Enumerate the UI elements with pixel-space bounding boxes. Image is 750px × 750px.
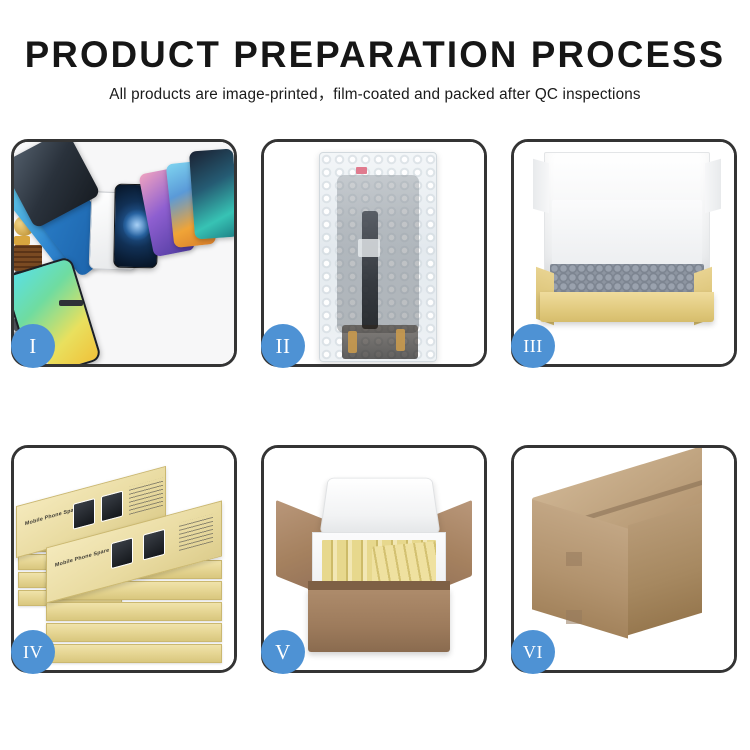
step-badge-1: I <box>11 324 55 368</box>
step-panel-4[interactable]: Mobile Phone Spare Parts Mobile Phone Sp… <box>11 445 237 673</box>
step-badge-5: V <box>261 630 305 674</box>
box-artwork-phone-icon <box>73 498 95 530</box>
product-preparation-infographic: PRODUCT PREPARATION PROCESS All products… <box>0 0 750 750</box>
foam-lid-icon <box>320 478 441 535</box>
phone-teal-screen-icon <box>189 149 234 240</box>
stacked-box <box>46 602 222 621</box>
step-badge-3: III <box>511 324 555 368</box>
bubble-wrap-bag-icon <box>319 152 437 362</box>
antenna-strip-icon <box>59 300 83 306</box>
carton-tape-icon <box>566 610 582 624</box>
carton-right-face-icon <box>628 503 702 636</box>
header: PRODUCT PREPARATION PROCESS All products… <box>0 33 750 105</box>
box-spec-text-icon <box>179 514 213 551</box>
box-artwork-phone-icon <box>143 529 165 561</box>
wrapped-flex-cable-icon <box>362 211 378 329</box>
gold-connector-icon <box>14 236 30 245</box>
page-subtitle: All products are image-printed，film-coat… <box>0 85 750 105</box>
step-badge-6: VI <box>511 630 555 674</box>
step-badge-4: IV <box>11 630 55 674</box>
carton-front-icon <box>308 588 450 652</box>
wrapped-connector-icon <box>358 239 380 257</box>
qc-sticker-icon <box>356 167 367 174</box>
yellow-box-front-icon <box>540 292 714 322</box>
page-title: PRODUCT PREPARATION PROCESS <box>4 33 747 77</box>
step-panel-2[interactable]: II <box>261 139 487 367</box>
step-panel-5[interactable]: V <box>261 445 487 673</box>
box-artwork-phone-icon <box>101 490 123 522</box>
gold-pin-icon <box>396 329 405 351</box>
box-spec-text-icon <box>129 478 163 515</box>
step-panel-6[interactable]: VI <box>511 445 737 673</box>
process-step-grid: I II <box>11 139 739 673</box>
step-panel-1[interactable]: I <box>11 139 237 367</box>
carton-tape-icon <box>566 552 582 566</box>
foam-sheet-icon <box>552 200 702 268</box>
gold-pin-icon <box>348 331 357 353</box>
stacked-box <box>46 644 222 663</box>
step-badge-2: II <box>261 324 305 368</box>
stacked-box <box>46 623 222 642</box>
step-panel-3[interactable]: III <box>511 139 737 367</box>
box-artwork-phone-icon <box>111 537 133 569</box>
